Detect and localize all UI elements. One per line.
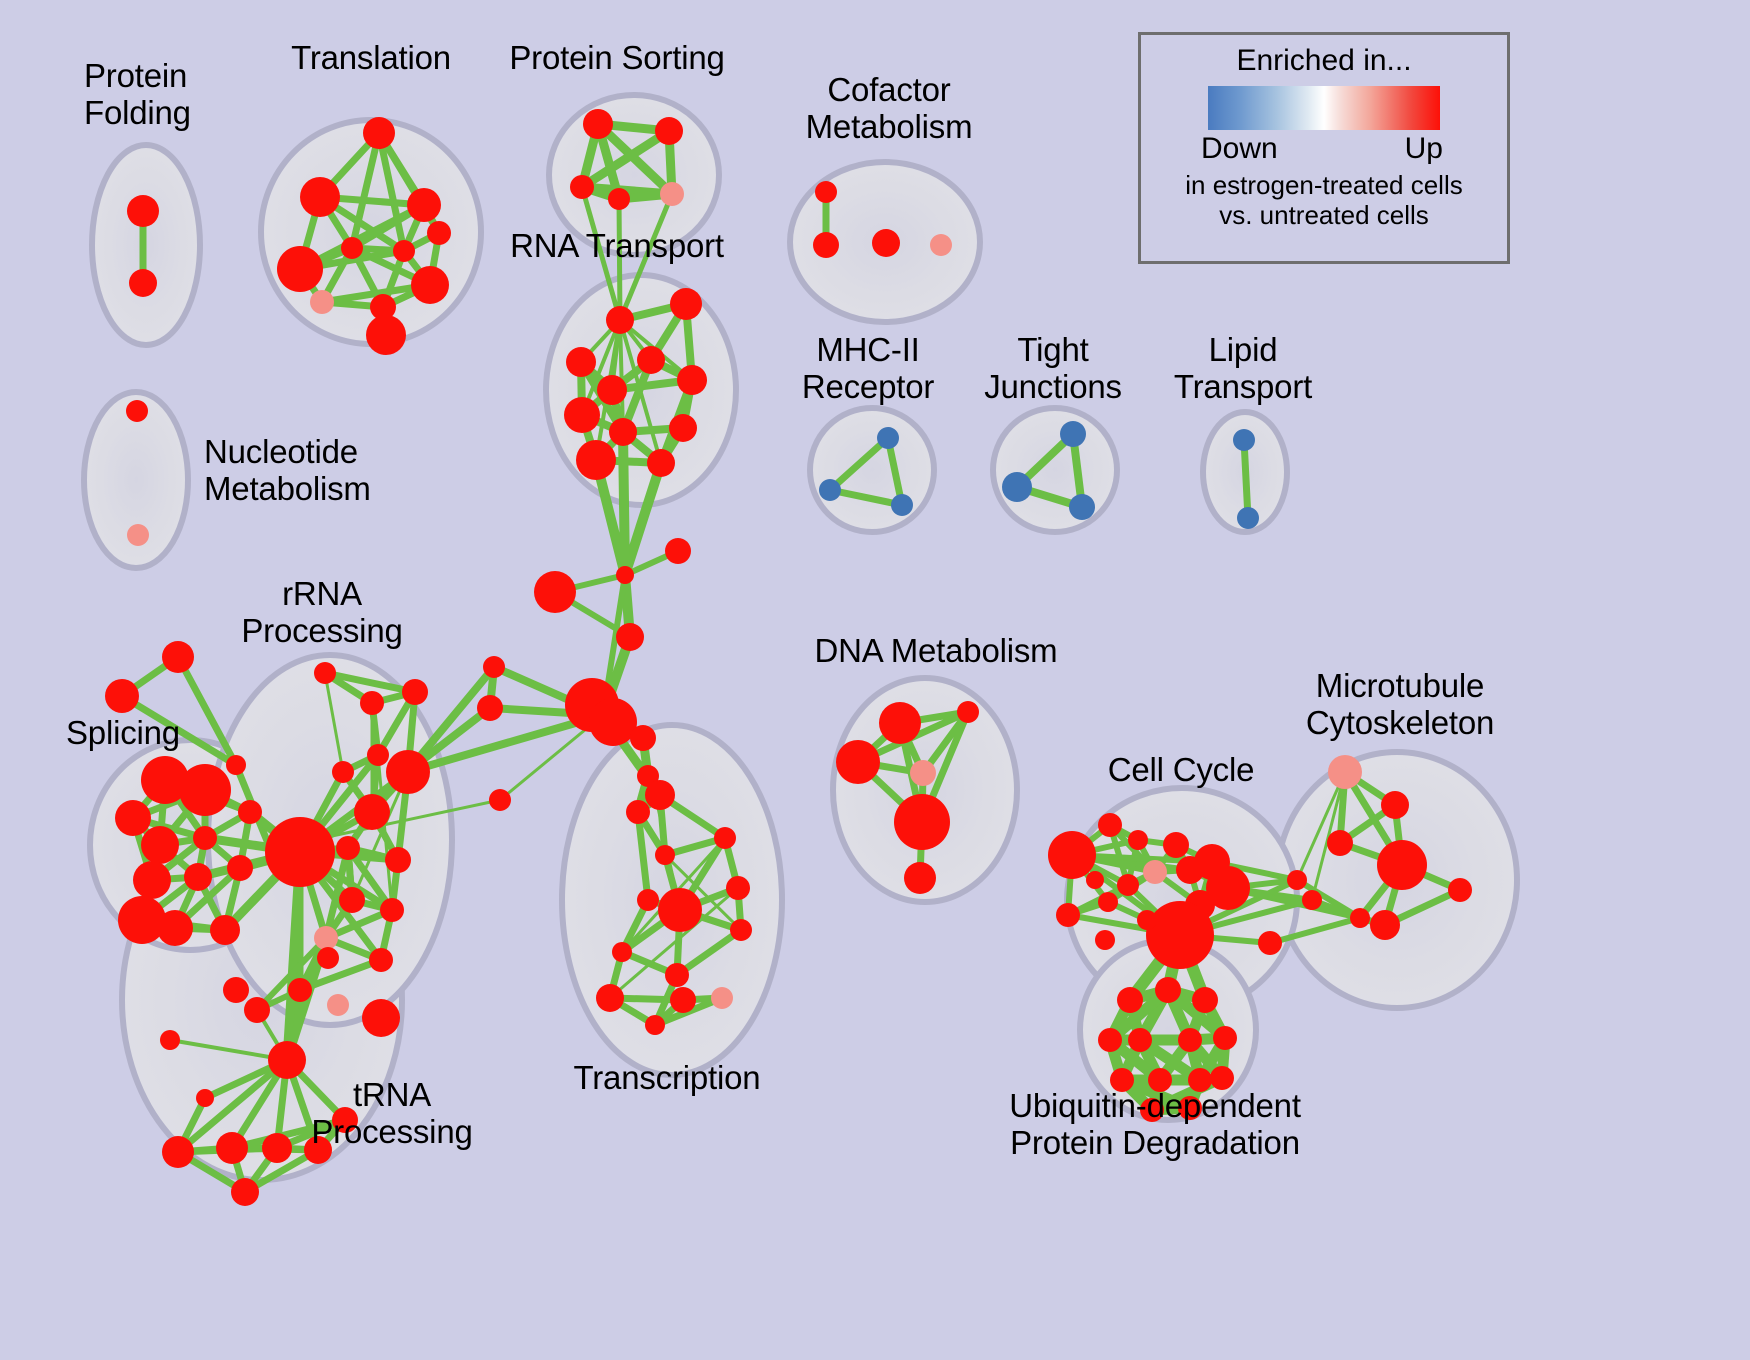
halo-mhc-ii <box>810 408 934 532</box>
legend-subtext: in estrogen-treated cells vs. untreated … <box>1141 171 1507 230</box>
label-protein-folding: Protein Folding <box>84 58 191 132</box>
label-mhc-ii-receptor: MHC-II Receptor <box>802 332 934 406</box>
legend-subtext-line2: vs. untreated cells <box>1141 201 1507 230</box>
label-translation: Translation <box>291 40 451 77</box>
label-nucleotide-metabolism: Nucleotide Metabolism <box>204 434 371 508</box>
label-microtubule-cytoskeleton: Microtubule Cytoskeleton <box>1306 668 1494 742</box>
legend-box: Enriched in... Down Up in estrogen-treat… <box>1138 32 1510 264</box>
legend-up-label: Up <box>1405 132 1443 166</box>
label-cofactor-metabolism: Cofactor Metabolism <box>806 72 973 146</box>
label-trna-processing: tRNA Processing <box>311 1077 472 1151</box>
label-splicing: Splicing <box>66 715 180 752</box>
label-lipid-transport: Lipid Transport <box>1174 332 1312 406</box>
legend-color-gradient-bar <box>1208 86 1440 130</box>
label-protein-sorting: Protein Sorting <box>509 40 724 77</box>
label-cell-cycle: Cell Cycle <box>1108 752 1255 789</box>
network-figure: Protein Folding Translation Protein Sort… <box>0 0 1750 1360</box>
label-transcription: Transcription <box>574 1060 761 1097</box>
label-ubiquitin-protein-degradation: Ubiquitin-dependent Protein Degradation <box>1009 1088 1301 1162</box>
legend-down-label: Down <box>1201 132 1278 166</box>
label-dna-metabolism: DNA Metabolism <box>815 633 1058 670</box>
legend-subtext-line1: in estrogen-treated cells <box>1141 171 1507 200</box>
halo-tight-junctions <box>993 408 1117 532</box>
legend-endpoint-labels: Down Up <box>1193 132 1455 170</box>
label-rrna-processing: rRNA Processing <box>241 576 402 650</box>
legend-title: Enriched in... <box>1141 44 1507 78</box>
label-rna-transport: RNA Transport <box>510 228 724 265</box>
label-tight-junctions: Tight Junctions <box>984 332 1122 406</box>
